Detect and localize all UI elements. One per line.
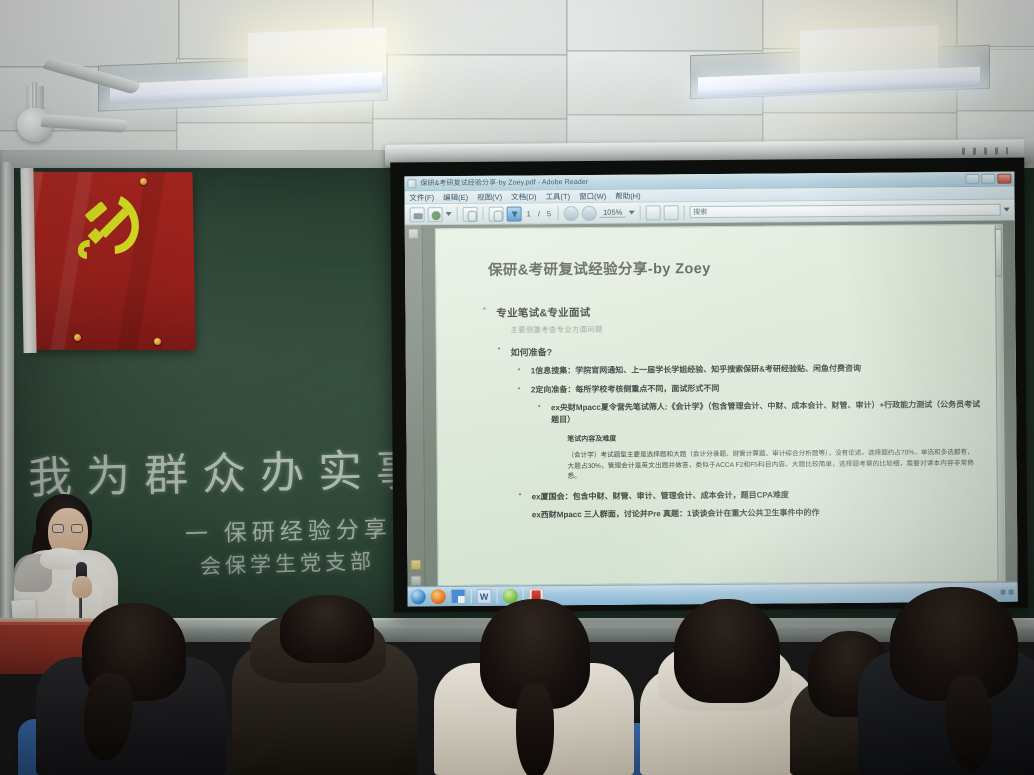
hand-tool-icon[interactable] [463,206,478,221]
audience-member [636,599,816,775]
nav-spacer [413,244,415,554]
page-separator: / [536,209,542,218]
example-cufe: ex央财Mpacc夏令营先笔试筛人:《会计学》（包含管理会计、中财、成本会计、财… [551,399,987,426]
audience-member [228,587,418,775]
section-subtitle: 主要侧重考查专业方面问题 [510,321,986,336]
note-body: （会计学）考试题型主要是选择题和大题（会计分录题、财管计算题、审计综合分析题等）… [567,448,988,482]
save-dropdown-caret[interactable] [446,212,452,216]
adobe-reader-icon [407,179,416,188]
zoom-level[interactable]: 105% [600,208,625,218]
maximize-button[interactable] [981,174,995,184]
ceiling [0,0,1034,158]
point-1: 1信息搜集：学院官网通知、上一届学长学姐经验、知乎搜索保研&考研经验贴、闲鱼付费… [531,362,987,377]
chalkboard-line-3: 会保学生党支部 [200,545,376,580]
menu-item-tools[interactable]: 工具(T) [545,191,570,202]
roller-vents [962,147,1008,154]
select-tool-icon[interactable] [489,206,504,221]
hammer-and-sickle-icon [65,190,152,262]
menu-item-file[interactable]: 文件(F) [409,192,434,203]
audience-ponytail [516,683,554,775]
toolbar-separator [683,205,684,219]
reader-body: 保研&考研复试经验分享-by Zoey 专业笔试&专业面试 主要侧重考查专业方面… [405,221,1018,587]
page-scrollbar[interactable] [995,225,1005,581]
scrollbar-thumb[interactable] [995,229,1002,277]
projection-screen: 保研&考研复试经验分享-by Zoey.pdf - Adobe Reader 文… [390,158,1028,613]
example-swufe: ex西财Mpacc 三人群面，讨论并Pre 真题：1谈谈会计在重大公共卫生事件中… [532,506,988,521]
search-placeholder: 搜索 [693,207,707,217]
window-title: 保研&考研复试经验分享-by Zoey.pdf - Adobe Reader [420,174,961,188]
flag-cloth [26,172,195,351]
audience-member [434,595,634,775]
page-area: 保研&考研复试经验分享-by Zoey 专业笔试&专业面试 主要侧重考查专业方面… [423,221,1018,587]
example-xgh: ex厦国会：包含中财、财管、审计、管理会计、成本会计，题目CPA难度 [532,488,988,503]
chalkboard-line-2: 一 保研经验分享会 [185,509,421,549]
attachments-panel-icon[interactable] [410,575,421,586]
window-controls [965,174,1014,184]
menu-item-view[interactable]: 视图(V) [477,191,502,202]
toolbar-separator [558,206,559,220]
slide-title: 保研&考研复试经验分享-by Zoey [488,255,986,280]
note-heading: 笔试内容及难度 [567,431,987,444]
menu-item-help[interactable]: 帮助(H) [615,190,641,201]
audience-member [858,585,1034,775]
menu-item-window[interactable]: 窗口(W) [579,190,606,201]
adobe-reader-window: 保研&考研复试经验分享-by Zoey.pdf - Adobe Reader 文… [404,172,1017,607]
save-icon[interactable] [428,207,443,222]
flag-pin [74,334,81,341]
close-button[interactable] [997,174,1011,184]
audience-member [36,600,226,775]
projected-image: 保研&考研复试经验分享-by Zoey.pdf - Adobe Reader 文… [404,172,1017,607]
toolbar-separator [483,207,484,221]
search-dropdown-caret[interactable] [1004,208,1010,212]
flag-pin [154,338,161,345]
page-current[interactable]: 1 [525,209,533,218]
pages-panel-icon[interactable] [408,228,419,239]
zoom-in-icon[interactable] [582,205,597,220]
roller-end-cap [1024,137,1034,163]
toolbar-separator [639,206,640,220]
glasses-icon [52,524,83,533]
party-flag [18,168,194,353]
minimize-button[interactable] [965,174,979,184]
search-input[interactable]: 搜索 [689,204,1000,218]
menu-item-document[interactable]: 文档(D) [511,191,537,202]
menu-item-edit[interactable]: 编辑(E) [443,191,468,202]
fit-width-icon[interactable] [645,205,660,220]
section-heading: 专业笔试&专业面试 [496,302,986,321]
audience [0,590,1034,775]
page-down-icon[interactable] [507,206,522,221]
bookmarks-panel-icon[interactable] [410,559,421,570]
flag-pin [140,178,147,185]
point-2: 2定向准备：每所学校考核侧重点不同，面试形式不同 [531,380,987,395]
audience-hair [280,595,374,663]
pdf-page: 保研&考研复试经验分享-by Zoey 专业笔试&专业面试 主要侧重考查专业方面… [435,224,1006,586]
toolbar-separator [457,207,458,221]
classroom-scene: 我为群众办实事 一 保研经验分享会 会保学生党支部 [0,0,1034,775]
print-icon[interactable] [410,207,425,222]
zoom-out-icon[interactable] [564,206,579,221]
fullscreen-icon[interactable] [663,205,678,220]
page-total: 5 [545,209,553,218]
question-line: 如何准备? [511,342,987,359]
audience-hair [674,599,780,703]
zoom-dropdown-caret[interactable] [628,211,634,215]
